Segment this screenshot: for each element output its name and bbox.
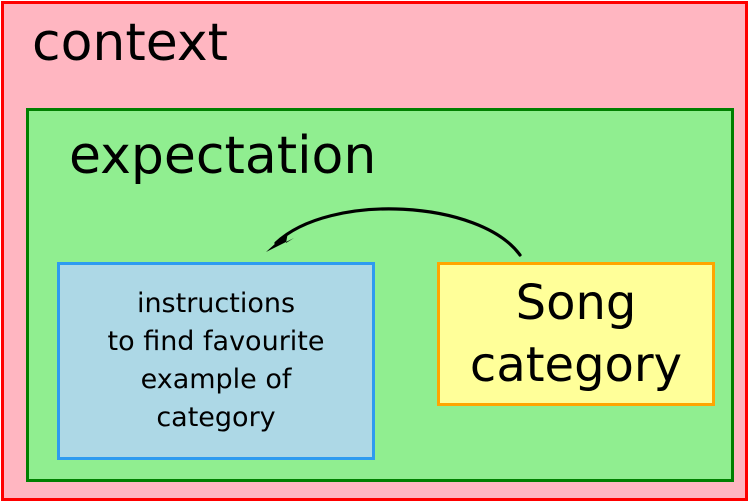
expectation-container: expectation instructions to find favouri… xyxy=(26,108,734,482)
instructions-line-4: category xyxy=(156,399,275,437)
song-line-1: Song xyxy=(516,272,637,334)
context-label: context xyxy=(32,12,228,74)
context-container: context expectation instructions to find… xyxy=(1,1,748,501)
diagram-canvas: context expectation instructions to find… xyxy=(0,0,751,504)
expectation-label: expectation xyxy=(69,125,376,187)
instructions-node[interactable]: instructions to find favourite example o… xyxy=(57,262,375,460)
song-category-node[interactable]: Song category xyxy=(437,262,715,406)
instructions-line-2: to find favourite xyxy=(108,323,325,361)
instructions-line-1: instructions xyxy=(137,285,295,323)
song-line-2: category xyxy=(470,334,682,396)
instructions-line-3: example of xyxy=(141,361,292,399)
